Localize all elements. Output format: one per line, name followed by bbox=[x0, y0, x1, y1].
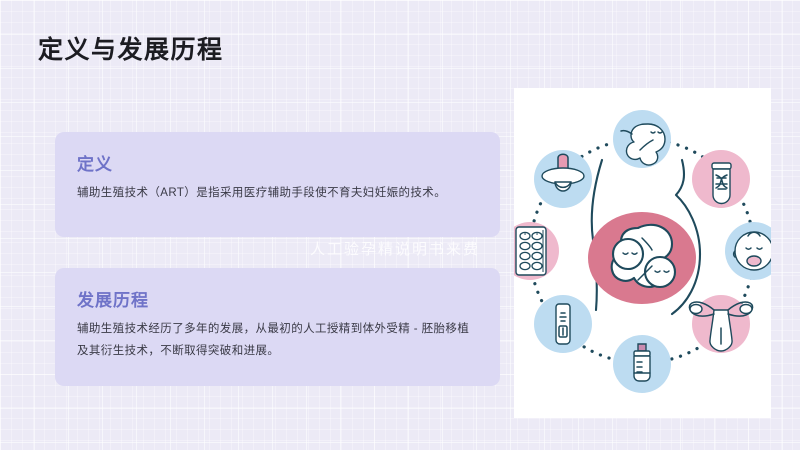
slide-canvas: 定义与发展历程 定义 辅助生殖技术（ART）是指采用医疗辅助手段使不育夫妇妊娠的… bbox=[0, 0, 800, 450]
watermark-text: 人工验孕精说明书来费 bbox=[310, 238, 480, 259]
illustration-panel: .ol { fill:none; stroke:#1f4a5c; stroke-… bbox=[514, 88, 771, 418]
pregnancy-test-icon[interactable] bbox=[534, 295, 592, 353]
dna-test-tube-icon[interactable] bbox=[692, 150, 750, 208]
baby-face-icon[interactable] bbox=[725, 222, 771, 280]
card-history[interactable]: 发展历程 辅助生殖技术经历了多年的发展，从最初的人工授精到体外受精 - 胚胎移植… bbox=[55, 268, 500, 386]
card-definition[interactable]: 定义 辅助生殖技术（ART）是指采用医疗辅助手段使不育夫妇妊娠的技术。 bbox=[55, 132, 500, 237]
card-history-title: 发展历程 bbox=[77, 286, 149, 311]
card-history-body: 辅助生殖技术经历了多年的发展，从最初的人工授精到体外受精 - 胚胎移植及其衍生技… bbox=[77, 318, 477, 362]
baby-bottle-icon[interactable] bbox=[613, 335, 671, 393]
card-definition-body: 辅助生殖技术（ART）是指采用医疗辅助手段使不育夫妇妊娠的技术。 bbox=[77, 182, 477, 204]
page-title: 定义与发展历程 bbox=[38, 30, 224, 66]
card-definition-title: 定义 bbox=[77, 150, 113, 175]
pacifier-icon[interactable] bbox=[534, 150, 592, 208]
pill-pack-icon[interactable] bbox=[514, 222, 559, 280]
fertility-illustration: .ol { fill:none; stroke:#1f4a5c; stroke-… bbox=[514, 88, 771, 418]
fetus-icon[interactable] bbox=[613, 110, 671, 168]
uterus-icon[interactable] bbox=[689, 295, 752, 353]
pregnant-belly-figure bbox=[588, 160, 700, 314]
